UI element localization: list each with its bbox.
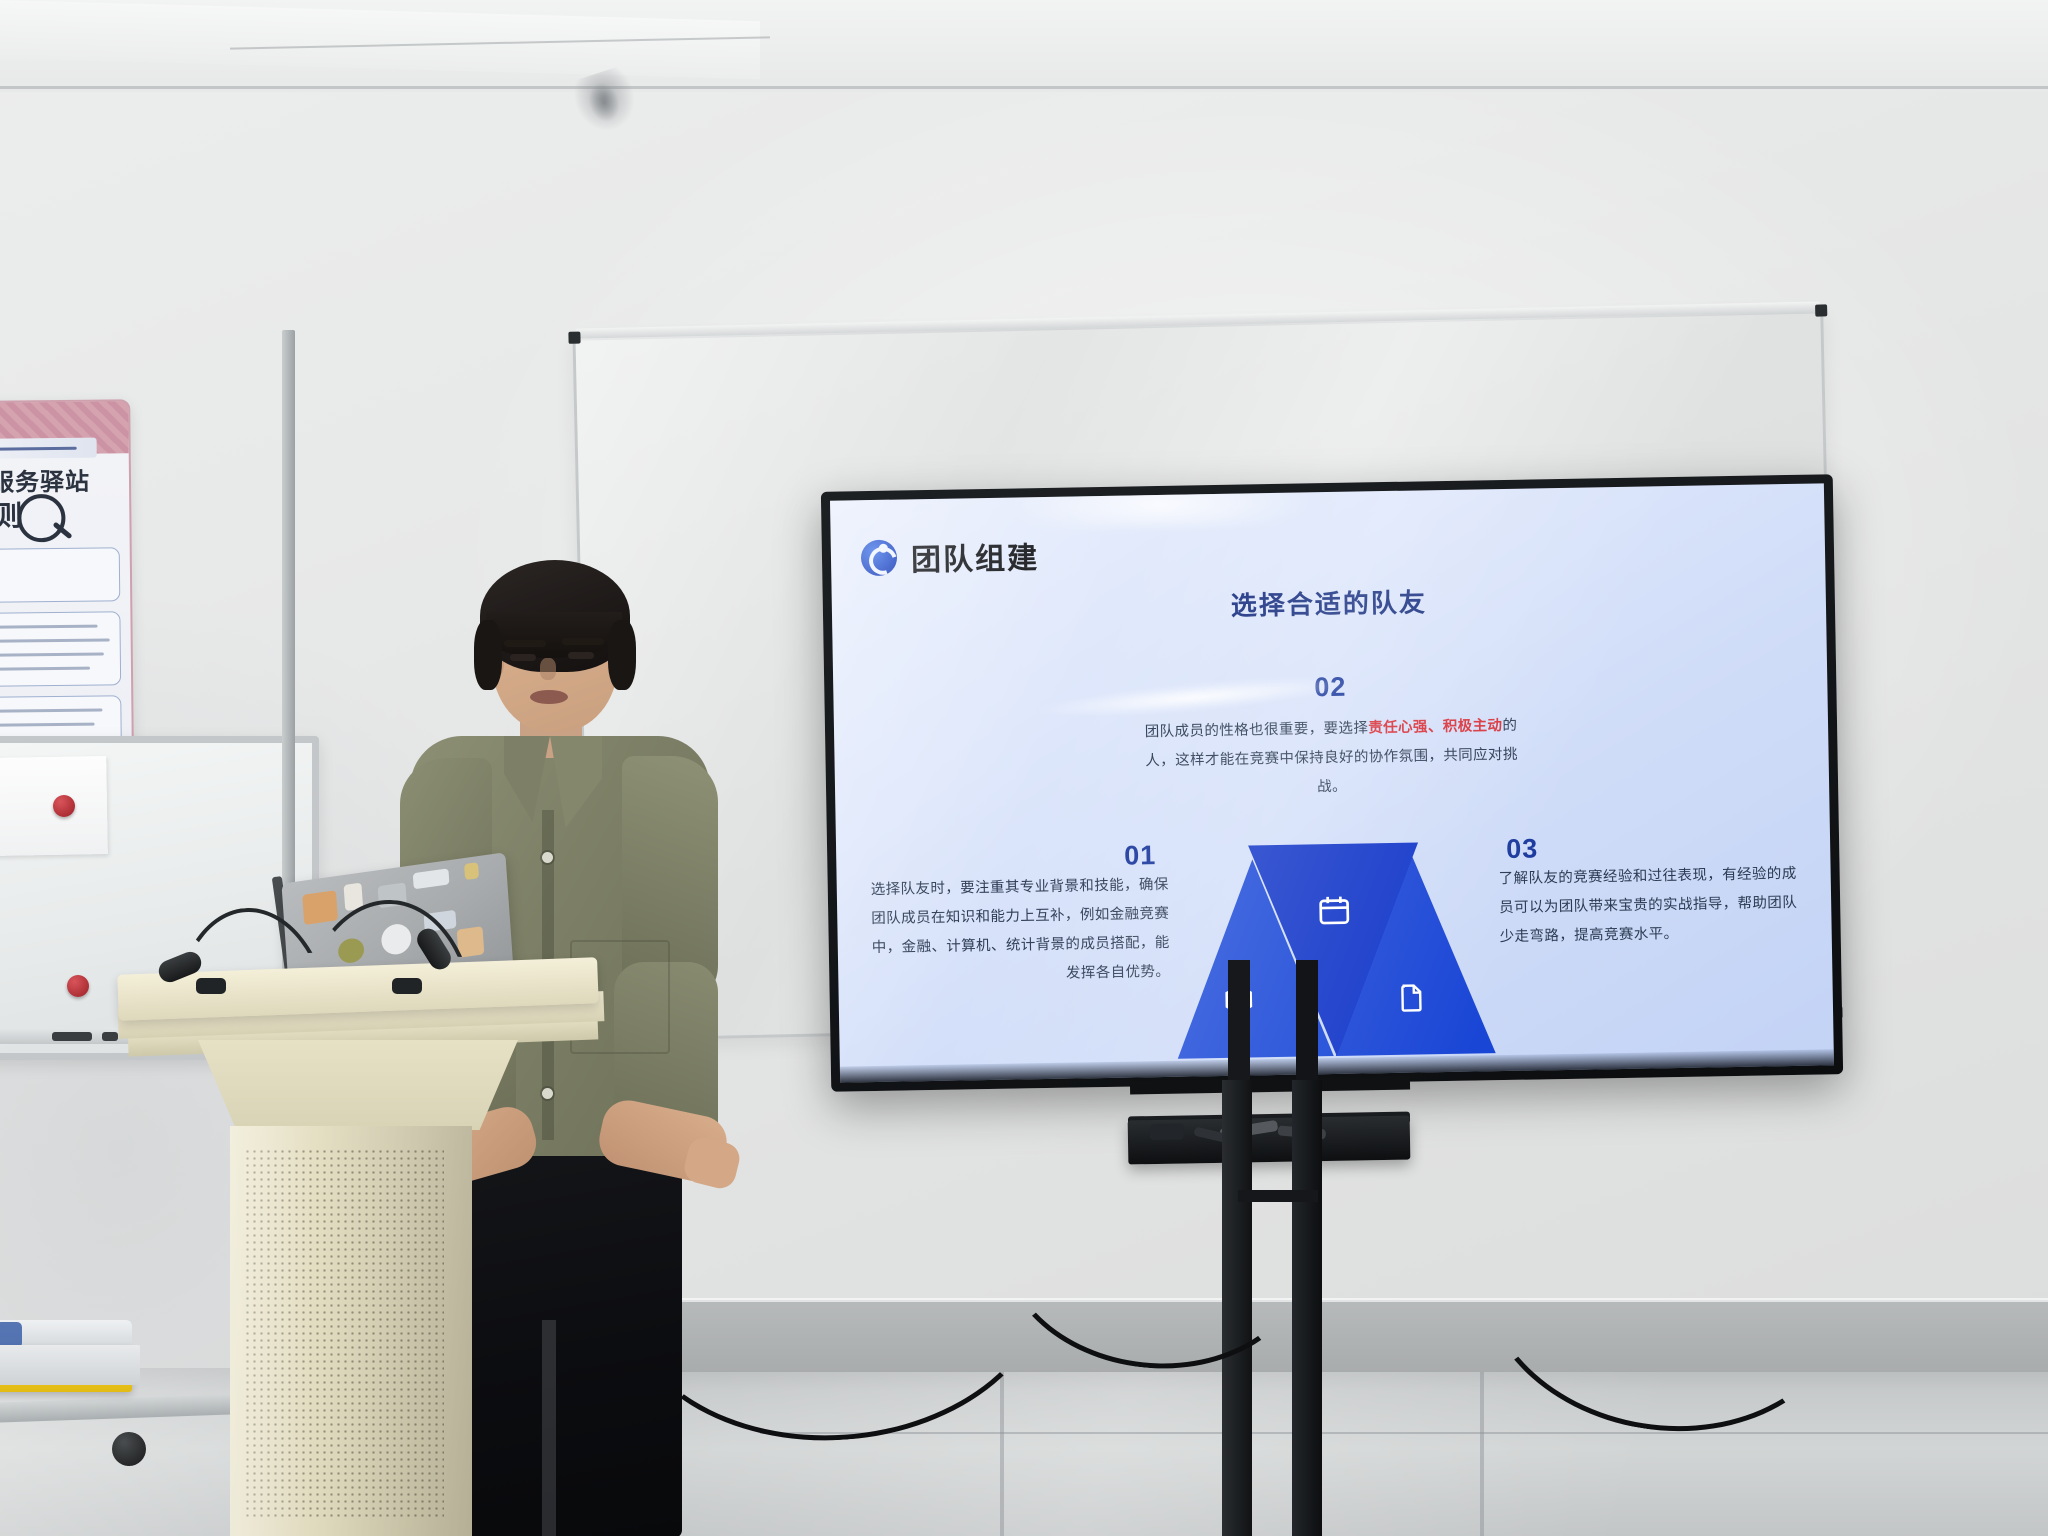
whiteboard-magnet[interactable]: [53, 795, 75, 817]
poster-text-line: [0, 653, 104, 657]
poster-text-line: [0, 638, 110, 642]
section-number: 01: [858, 840, 1168, 876]
trouser-leg-separation: [542, 1320, 556, 1536]
presenter-mouth: [530, 690, 568, 704]
whiteboard-eraser[interactable]: [102, 1032, 118, 1041]
shirt-button: [542, 1088, 553, 1099]
section-body: 团队成员的性格也很重要，要选择责任心强、积极主动的人，这样才能在竞赛中保持良好的…: [1145, 718, 1518, 795]
poster-content-card: [0, 611, 121, 687]
highlighted-text: 责任心强、积极主动: [1368, 718, 1502, 736]
section-body: 选择队友时，要注重其专业背景和技能，确保团队成员在知识和能力上互补，例如金融竞赛…: [871, 877, 1171, 982]
ceiling-wall-seam: [0, 86, 2048, 89]
white-box: [0, 1345, 140, 1385]
tv-screen[interactable]: 团队组建 选择合适的队友 02 团队成员的性格也很重要，要选择责任心强、积极主动…: [830, 483, 1834, 1082]
poster-text-line: [0, 723, 95, 727]
presentation-slide: 团队组建 选择合适的队友 02 团队成员的性格也很重要，要选择责任心强、积极主动…: [830, 483, 1834, 1082]
whiteboard-corner-bracket: [1815, 304, 1827, 316]
whiteboard-caster-wheel: [112, 1432, 146, 1466]
plain-text: 选择队友时，要注重其专业背景和技能，确保团队成员在知识和能力上互补，例如金融竞赛…: [871, 877, 1171, 982]
tv-stand-neck: [1228, 960, 1250, 1092]
slide-triangle-graphic: [1174, 841, 1496, 1059]
laptop-sticker: [302, 890, 338, 925]
document-file-icon: [1394, 980, 1429, 1015]
slide-section-03: 03 了解队友的竞赛经验和过往表现，有经验的成员可以为团队带来宝贵的实战指导，帮…: [1498, 829, 1812, 952]
whiteboard-marker[interactable]: [52, 1032, 92, 1041]
magnifier-icon: [17, 494, 66, 543]
tv-stand-neck: [1296, 960, 1318, 1092]
shirt-button: [542, 852, 553, 863]
presenter-eyebrow-right: [562, 638, 604, 645]
poster-title-tab: [0, 438, 97, 459]
presenter-eye-right: [568, 652, 594, 659]
whiteboard-corner-bracket: [568, 332, 580, 344]
presenter-nose: [540, 658, 556, 680]
microphone-base: [196, 978, 226, 994]
slide-title: 选择合适的队友: [832, 575, 1826, 629]
poster-tab-bar: [0, 447, 77, 451]
plain-text: 团队成员的性格也很重要，要选择: [1145, 720, 1369, 740]
wall-poster: 生服务驿站 细则: [0, 399, 134, 750]
podium-shading: [230, 1126, 472, 1536]
section-number: 03: [1498, 829, 1810, 865]
tv-stand-column: [1292, 1080, 1322, 1536]
floor-tile-joint: [1480, 1370, 1484, 1536]
presenter-eyebrow-left: [504, 640, 546, 647]
laptop-sticker: [413, 868, 450, 889]
presentation-room-photo: 生服务驿站 细则 大桶 70: [0, 0, 2048, 1536]
poster-content-card: [0, 547, 120, 603]
slide-section-01: 01 选择队友时，要注重其专业背景和技能，确保团队成员在知识和能力上互补，例如金…: [858, 840, 1171, 992]
slide-brand-label: 团队组建: [911, 533, 1040, 579]
section-body: 了解队友的竞赛经验和过往表现，有经验的成员可以为团队带来宝贵的实战指导，帮助团队…: [1499, 866, 1798, 945]
poster-text-line: [0, 667, 90, 671]
presenter-hair-side-left: [474, 620, 502, 690]
triangle-center: [1248, 843, 1422, 1058]
poster-text-line: [0, 625, 98, 629]
laptop-sticker: [464, 862, 479, 880]
calendar-icon: [1315, 892, 1354, 931]
podium-taper: [198, 1040, 518, 1130]
circular-swirl-logo-icon: [861, 540, 898, 577]
poster-heading-line1: 生服务驿站: [0, 462, 90, 498]
floor-tile-joint: [1000, 1370, 1004, 1536]
wall-display[interactable]: 团队组建 选择合适的队友 02 团队成员的性格也很重要，要选择责任心强、积极主动…: [821, 474, 1843, 1092]
whiteboard-magnet[interactable]: [67, 975, 89, 997]
presenter-hair-side-right: [608, 620, 636, 690]
plain-text: 了解队友的竞赛经验和过往表现，有经验的成员可以为团队带来宝贵的实战指导，帮助团队…: [1499, 866, 1798, 945]
poster-text-line: [0, 709, 102, 713]
floor-tile-joint: [760, 1432, 2048, 1434]
presenter-eye-left: [510, 654, 536, 661]
microphone-base: [392, 978, 422, 994]
slide-brand: 团队组建: [861, 533, 1040, 580]
